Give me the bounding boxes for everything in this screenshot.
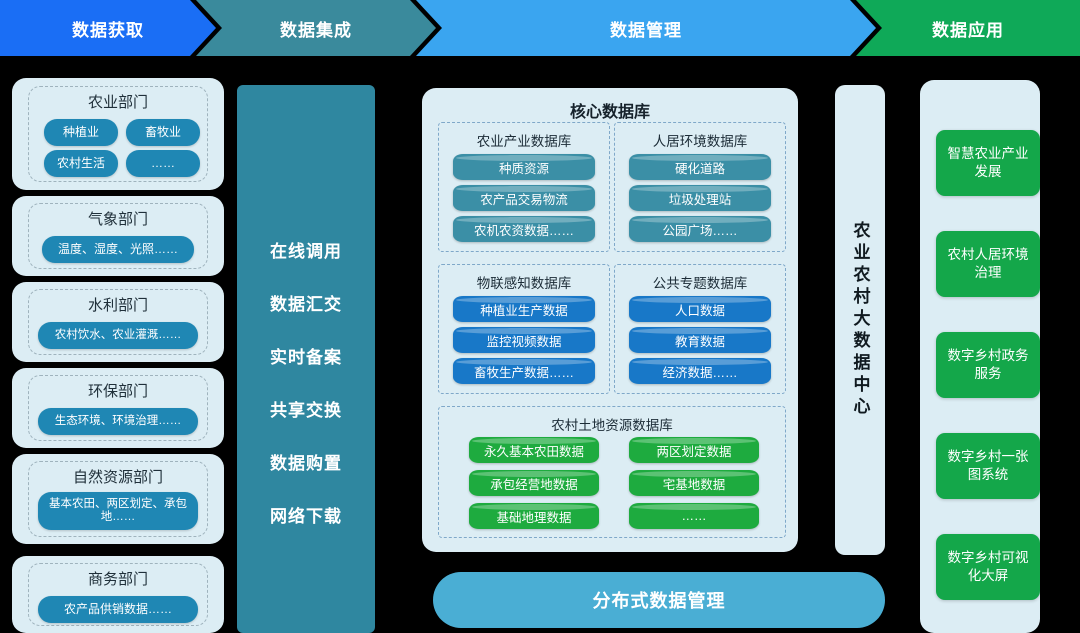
department-tag[interactable]: 农村生活 [44, 150, 118, 177]
subdb-title: 农业产业数据库 [439, 130, 609, 150]
department-card-natural-resources[interactable]: 自然资源部门 基本农田、两区划定、承包地…… [12, 454, 224, 544]
subdb-title: 物联感知数据库 [439, 272, 609, 292]
db-cylinder-label: 硬化道路 [675, 158, 725, 177]
department-title: 气象部门 [12, 208, 224, 229]
db-cylinder[interactable]: 垃圾处理站 [629, 185, 771, 211]
db-cylinder-label: 监控视频数据 [486, 331, 561, 350]
department-card-commerce[interactable]: 商务部门 农产品供销数据…… [12, 556, 224, 633]
core-database-title: 核心数据库 [422, 98, 798, 122]
db-cylinder-label: 种植业生产数据 [480, 300, 568, 319]
db-cylinder[interactable]: 永久基本农田数据 [469, 437, 599, 463]
applications-panel: 智慧农业产业发展 农村人居环境治理 数字乡村政务服务 数字乡村一张图系统 数字乡… [920, 80, 1040, 633]
department-card-meteorology[interactable]: 气象部门 温度、湿度、光照…… [12, 196, 224, 276]
db-cylinder-label: 垃圾处理站 [669, 189, 732, 208]
db-cylinder-label: 两区划定数据 [656, 441, 731, 460]
db-cylinder-label: 人口数据 [675, 300, 725, 319]
subdb-iot-sensing: 物联感知数据库 种植业生产数据 监控视频数据 畜牧生产数据…… [438, 264, 610, 394]
department-title: 商务部门 [12, 568, 224, 589]
stage-banner-data-application[interactable]: 数据应用 [856, 0, 1080, 56]
db-cylinder[interactable]: …… [629, 503, 759, 529]
department-title: 水利部门 [12, 294, 224, 315]
stage-banner-data-integration[interactable]: 数据集成 [196, 0, 436, 56]
subdb-rural-land-resources: 农村土地资源数据库 永久基本农田数据 承包经营地数据 基础地理数据 两区划定数据… [438, 406, 786, 538]
distributed-data-management-label: 分布式数据管理 [593, 587, 726, 613]
db-cylinder[interactable]: 监控视频数据 [453, 327, 595, 353]
department-title: 农业部门 [12, 91, 224, 112]
db-cylinder[interactable]: 农产品交易物流 [453, 185, 595, 211]
subdb-agriculture-industry: 农业产业数据库 种质资源 农产品交易物流 农机农资数据…… [438, 122, 610, 252]
db-cylinder[interactable]: 经济数据…… [629, 358, 771, 384]
db-cylinder[interactable]: 教育数据 [629, 327, 771, 353]
db-cylinder[interactable]: 宅基地数据 [629, 470, 759, 496]
db-cylinder-label: 农产品交易物流 [480, 189, 568, 208]
department-card-water-resources[interactable]: 水利部门 农村饮水、农业灌溉…… [12, 282, 224, 362]
application-digital-village-one-map[interactable]: 数字乡村一张图系统 [936, 433, 1040, 499]
db-cylinder-label: 宅基地数据 [663, 474, 726, 493]
db-cylinder-label: 基础地理数据 [496, 507, 571, 526]
integration-item-data-submission[interactable]: 数据汇交 [237, 290, 375, 315]
core-database-panel: 核心数据库 农业产业数据库 种质资源 农产品交易物流 农机农资数据…… 人居环境… [422, 88, 798, 552]
department-card-agriculture[interactable]: 农业部门 种植业 畜牧业 农村生活 …… [12, 78, 224, 190]
integration-item-online-call[interactable]: 在线调用 [237, 237, 375, 262]
integration-item-data-purchase[interactable]: 数据购置 [237, 449, 375, 474]
subdb-title: 农村土地资源数据库 [439, 414, 785, 434]
subdb-title: 公共专题数据库 [615, 272, 785, 292]
db-cylinder-label: 种质资源 [499, 158, 549, 177]
integration-item-realtime-filing[interactable]: 实时备案 [237, 343, 375, 368]
stage-banner-label: 数据获取 [72, 16, 144, 41]
db-cylinder-label: 经济数据…… [662, 362, 737, 381]
department-tag[interactable]: 生态环境、环境治理…… [38, 408, 198, 435]
db-cylinder[interactable]: 人口数据 [629, 296, 771, 322]
big-data-center-label: 农业农村大数据中心 [835, 190, 885, 450]
db-cylinder-label: 承包经营地数据 [490, 474, 578, 493]
department-tag[interactable]: …… [126, 150, 200, 177]
diagram-root: 数据获取 数据集成 数据管理 数据应用 农业部门 种植业 畜牧业 农村生活 ……… [0, 0, 1080, 633]
department-title: 自然资源部门 [12, 466, 224, 487]
application-digital-village-government-service[interactable]: 数字乡村政务服务 [936, 332, 1040, 398]
db-cylinder-label: …… [682, 509, 707, 523]
db-cylinder[interactable]: 硬化道路 [629, 154, 771, 180]
integration-item-share-exchange[interactable]: 共享交换 [237, 396, 375, 421]
db-cylinder[interactable]: 种植业生产数据 [453, 296, 595, 322]
subdb-public-thematic: 公共专题数据库 人口数据 教育数据 经济数据…… [614, 264, 786, 394]
department-tag[interactable]: 种植业 [44, 119, 118, 146]
db-cylinder[interactable]: 种质资源 [453, 154, 595, 180]
application-smart-agriculture-industry[interactable]: 智慧农业产业发展 [936, 130, 1040, 196]
db-cylinder[interactable]: 基础地理数据 [469, 503, 599, 529]
department-tag[interactable]: 农产品供销数据…… [38, 596, 198, 623]
distributed-data-management-bar[interactable]: 分布式数据管理 [433, 572, 885, 628]
department-card-environment[interactable]: 环保部门 生态环境、环境治理…… [12, 368, 224, 448]
stage-banner-data-acquisition[interactable]: 数据获取 [0, 0, 216, 56]
big-data-center-column: 农业农村大数据中心 [835, 85, 885, 555]
stage-banner-label: 数据集成 [280, 16, 352, 41]
department-tag[interactable]: 畜牧业 [126, 119, 200, 146]
db-cylinder-label: 畜牧生产数据…… [474, 362, 574, 381]
integration-item-network-download[interactable]: 网络下载 [237, 502, 375, 527]
db-cylinder[interactable]: 承包经营地数据 [469, 470, 599, 496]
stage-banner-label: 数据应用 [932, 16, 1004, 41]
department-tag[interactable]: 基本农田、两区划定、承包地…… [38, 492, 198, 530]
subdb-title: 人居环境数据库 [615, 130, 785, 150]
stage-banner-label: 数据管理 [610, 16, 682, 41]
department-tag[interactable]: 农村饮水、农业灌溉…… [38, 322, 198, 349]
db-cylinder-label: 公园广场…… [662, 220, 737, 239]
db-cylinder-label: 永久基本农田数据 [484, 441, 584, 460]
db-cylinder-label: 教育数据 [675, 331, 725, 350]
db-cylinder[interactable]: 公园广场…… [629, 216, 771, 242]
db-cylinder-label: 农机农资数据…… [474, 220, 574, 239]
db-cylinder[interactable]: 两区划定数据 [629, 437, 759, 463]
application-digital-village-visual-screen[interactable]: 数字乡村可视化大屏 [936, 534, 1040, 600]
department-title: 环保部门 [12, 380, 224, 401]
db-cylinder[interactable]: 畜牧生产数据…… [453, 358, 595, 384]
department-tag[interactable]: 温度、湿度、光照…… [42, 236, 194, 263]
stage-banner-data-management[interactable]: 数据管理 [416, 0, 876, 56]
integration-panel: 在线调用 数据汇交 实时备案 共享交换 数据购置 网络下载 [237, 85, 375, 633]
db-cylinder[interactable]: 农机农资数据…… [453, 216, 595, 242]
application-rural-living-environment[interactable]: 农村人居环境治理 [936, 231, 1040, 297]
subdb-living-environment: 人居环境数据库 硬化道路 垃圾处理站 公园广场…… [614, 122, 786, 252]
